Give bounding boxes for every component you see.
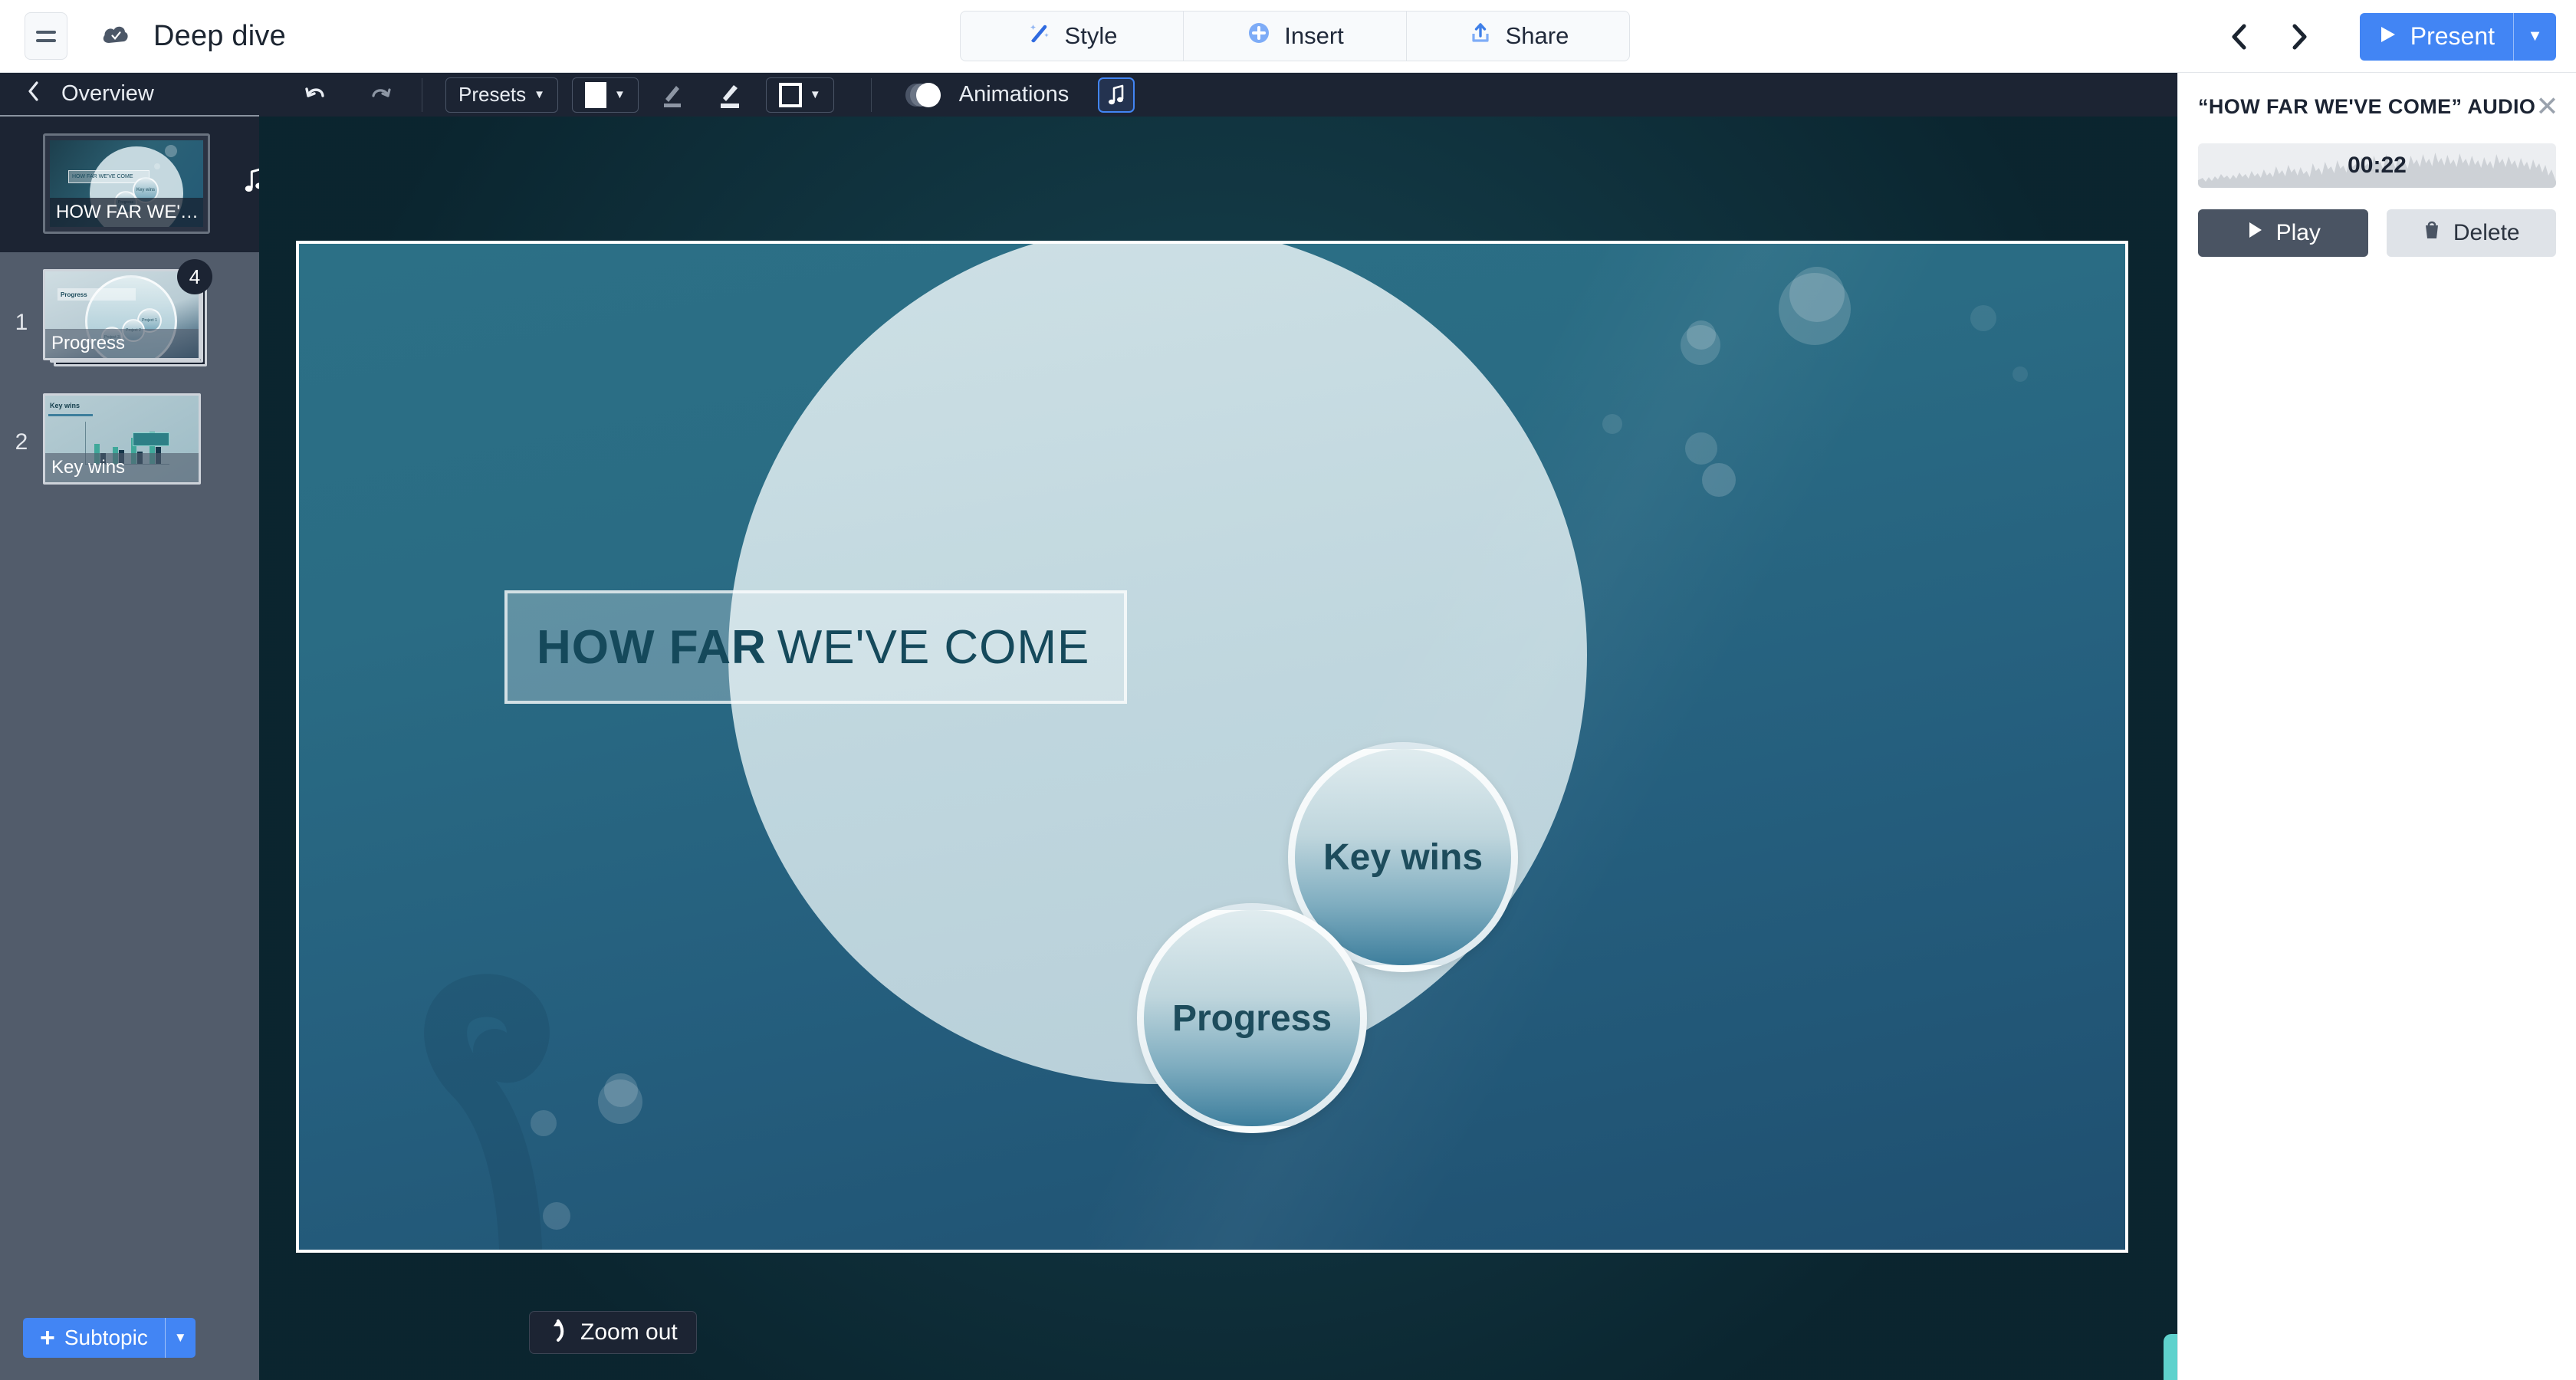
slide-title-bold: HOW FAR	[537, 621, 767, 674]
mini-bubble	[154, 163, 160, 169]
animations-label: Animations	[959, 82, 1069, 107]
center-toolbar: Style Insert Share	[960, 11, 1630, 61]
node-label: Progress	[1172, 997, 1332, 1040]
thumbnail-stack: 4 Progress Project 1 Project 2 Project 3…	[43, 269, 218, 376]
slide-title: HOW FARWE'VE COME	[537, 620, 1089, 675]
play-label: Play	[2276, 220, 2321, 246]
style-label: Style	[1065, 22, 1118, 50]
delete-audio-button[interactable]: Delete	[2387, 209, 2557, 257]
chevron-down-icon: ▼	[614, 88, 626, 101]
thumbnail-caption: Key wins	[45, 453, 199, 482]
slide-number: 2	[0, 429, 43, 455]
toggle-knob	[916, 83, 941, 107]
sidebar-item-key-wins[interactable]: 2 Key wins	[0, 376, 259, 491]
slide-sidebar: HOW FAR WE'VE COME Key wins Progress HOW…	[0, 117, 259, 1380]
top-bar: Deep dive Style Insert	[0, 0, 2576, 73]
node-progress[interactable]: Progress	[1137, 903, 1367, 1133]
audio-panel: “HOW FAR WE'VE COME” AUDIO ✕ 00:22 Play …	[2177, 73, 2576, 1380]
thumbnail-front: Key wins Key w	[43, 393, 201, 485]
hamburger-line	[36, 31, 56, 34]
undo-icon[interactable]	[297, 79, 333, 111]
redo-icon[interactable]	[363, 79, 399, 111]
pen-icon[interactable]	[652, 77, 692, 113]
subtopic-label: Subtopic	[64, 1326, 148, 1350]
thumbnail-preview: Progress Project 1 Project 2 Project 3 P…	[45, 271, 199, 358]
audio-panel-title: “HOW FAR WE'VE COME” AUDIO	[2198, 95, 2535, 119]
share-button[interactable]: Share	[1407, 11, 1629, 61]
overview-label: Overview	[61, 81, 154, 107]
arrow-up-curve-icon	[548, 1317, 568, 1348]
cloud-check-icon	[100, 20, 132, 52]
thumbnail-stack: Key wins Key w	[43, 393, 207, 491]
audio-actions: Play Delete	[2198, 209, 2556, 257]
audio-panel-header: “HOW FAR WE'VE COME” AUDIO ✕	[2178, 73, 2576, 120]
thumbnail-caption: HOW FAR WE'…	[50, 198, 203, 227]
chevron-left-icon	[26, 80, 41, 108]
animations-group: Animations	[905, 77, 1135, 113]
insert-label: Insert	[1284, 22, 1344, 50]
node-label: Key wins	[1323, 836, 1483, 879]
toolbar-divider	[871, 78, 872, 112]
thumbnail-shell: HOW FAR WE'VE COME Key wins Progress HOW…	[43, 133, 210, 234]
plus-circle-icon	[1246, 20, 1272, 52]
thumbnail-selection-frame: HOW FAR WE'VE COME Key wins Progress HOW…	[43, 133, 210, 234]
audio-waveform[interactable]: 00:22	[2198, 143, 2556, 188]
delete-label: Delete	[2453, 220, 2520, 246]
subtopic-dropdown-button[interactable]: ▼	[165, 1318, 195, 1358]
brush-icon[interactable]	[709, 77, 749, 113]
zoom-out-button[interactable]: Zoom out	[529, 1311, 697, 1354]
insert-button[interactable]: Insert	[1184, 11, 1407, 61]
magic-wand-icon	[1027, 20, 1053, 52]
thumbnail-caption: Progress	[45, 329, 199, 358]
presets-button[interactable]: Presets ▼	[445, 77, 558, 113]
presets-label: Presets	[458, 83, 526, 107]
slide-artboard[interactable]: HOW FARWE'VE COME Key wins Progress	[296, 241, 2128, 1253]
history-group	[297, 79, 399, 111]
next-slide-button[interactable]	[2269, 7, 2329, 67]
present-button-group: Present ▼	[2360, 13, 2556, 61]
slide-title-light: WE'VE COME	[777, 621, 1090, 674]
prev-slide-button[interactable]	[2210, 7, 2269, 67]
top-bar-right: Present ▼	[2210, 0, 2556, 73]
play-icon	[2246, 220, 2264, 246]
subtopic-bar: + Subtopic ▼	[0, 1296, 259, 1380]
plus-icon: +	[40, 1323, 55, 1353]
zoom-out-label: Zoom out	[580, 1319, 678, 1345]
hamburger-icon[interactable]	[25, 12, 67, 60]
toolbar-divider	[422, 78, 422, 112]
thumbnail-front: 4 Progress Project 1 Project 2 Project 3…	[43, 269, 201, 360]
mini-title: Progress	[58, 288, 136, 301]
upload-icon	[1467, 20, 1493, 52]
fill-color-button[interactable]: ▼	[572, 77, 639, 113]
stack-count-badge: 4	[177, 259, 212, 294]
sidebar-item-active[interactable]: HOW FAR WE'VE COME Key wins Progress HOW…	[0, 117, 259, 252]
sidebar-item-progress[interactable]: 1 4 Progress Project 1 Project 2 Project…	[0, 252, 259, 376]
hamburger-line	[36, 39, 56, 42]
play-icon	[2377, 24, 2398, 49]
page-title[interactable]: Deep dive	[153, 20, 286, 53]
present-label: Present	[2410, 22, 2495, 51]
animations-toggle[interactable]	[905, 83, 941, 107]
shape-button[interactable]: ▼	[766, 77, 834, 113]
chevron-down-icon: ▼	[810, 88, 821, 101]
close-icon[interactable]: ✕	[2535, 93, 2558, 120]
thumbnail-preview: HOW FAR WE'VE COME Key wins Progress HOW…	[50, 140, 203, 227]
play-audio-button[interactable]: Play	[2198, 209, 2368, 257]
mini-bubble	[165, 145, 177, 157]
present-button[interactable]: Present	[2360, 13, 2513, 61]
slide-title-box[interactable]: HOW FARWE'VE COME	[504, 590, 1127, 704]
mini-underline	[48, 414, 93, 416]
color-swatch	[585, 82, 606, 108]
add-subtopic-button[interactable]: + Subtopic	[23, 1318, 165, 1358]
slide-canvas[interactable]: HOW FARWE'VE COME Key wins Progress Zoom…	[259, 117, 2177, 1380]
style-button[interactable]: Style	[961, 11, 1184, 61]
slide-number: 1	[0, 310, 43, 336]
trash-icon	[2423, 219, 2441, 247]
mini-title: Key wins	[50, 402, 80, 409]
chevron-down-icon: ▼	[534, 88, 545, 101]
need-help-button[interactable]: Need help ?	[2164, 1334, 2177, 1380]
share-label: Share	[1506, 22, 1569, 50]
thumbnail-preview: Key wins Key w	[45, 396, 199, 482]
overview-back-button[interactable]: Overview	[0, 73, 259, 117]
present-dropdown-button[interactable]: ▼	[2513, 13, 2556, 61]
music-note-icon[interactable]	[1098, 77, 1135, 113]
audio-duration: 00:22	[2198, 143, 2556, 188]
rectangle-icon	[779, 83, 802, 107]
